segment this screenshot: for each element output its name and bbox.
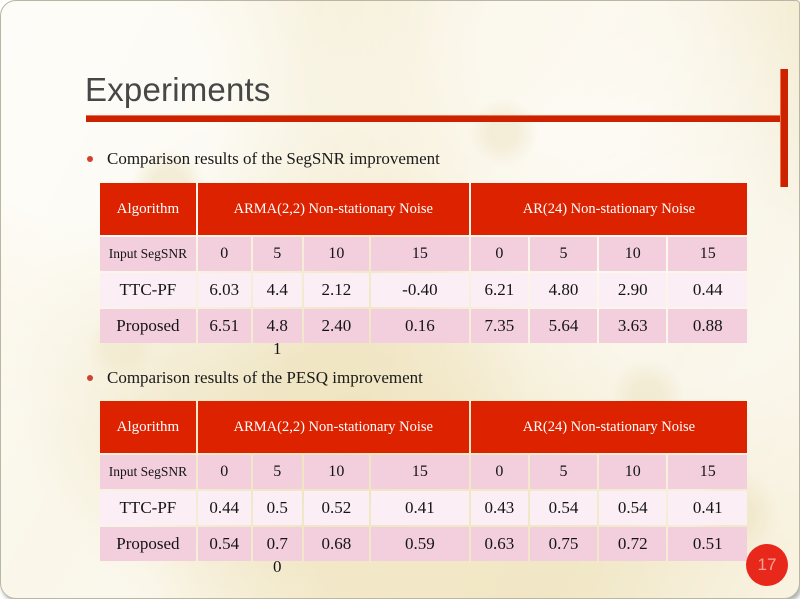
subheader-cell: 5 — [530, 237, 597, 271]
right-accent-bar — [780, 69, 788, 187]
subheader-cell: 0 — [471, 455, 528, 489]
column-group-header: ARMA(2,2) Non-stationary Noise — [198, 183, 469, 235]
table-cell: 0.54 — [599, 491, 666, 525]
bullet-label: Comparison results of the PESQ improveme… — [107, 368, 423, 388]
slide-number-badge: 17 — [746, 544, 788, 586]
table-cell: 7.35 — [471, 309, 528, 343]
segsnr-table-container: AlgorithmARMA(2,2) Non-stationary NoiseA… — [98, 181, 749, 345]
table-cell: 2.12 — [304, 273, 369, 307]
row-label: TTC-PF — [100, 491, 196, 525]
table-cell: 5.64 — [530, 309, 597, 343]
subheader-cell: 0 — [198, 237, 251, 271]
subheader-cell: 10 — [599, 455, 666, 489]
table-cell: 4.81 — [253, 309, 302, 343]
cell-value-overflow: 1 — [253, 339, 302, 359]
slide-canvas: Experiments Comparison results of the Se… — [0, 0, 800, 599]
table-cell: 0.63 — [471, 527, 528, 561]
table-cell: 0.41 — [668, 491, 747, 525]
bullet-item-segsnr: Comparison results of the SegSNR improve… — [87, 149, 440, 169]
bullet-dot-icon — [87, 156, 93, 162]
table-cell: 0.43 — [471, 491, 528, 525]
table-header-row: AlgorithmARMA(2,2) Non-stationary NoiseA… — [100, 183, 747, 235]
cell-value: 0.7 — [253, 534, 302, 554]
subheader-label: Input SegSNR — [100, 237, 196, 271]
table-cell: 0.41 — [371, 491, 469, 525]
column-group-header: AR(24) Non-stationary Noise — [471, 401, 747, 453]
subheader-cell: 0 — [198, 455, 251, 489]
table-cell: 3.63 — [599, 309, 666, 343]
cell-value: 4.8 — [253, 316, 302, 336]
bullet-item-pesq: Comparison results of the PESQ improveme… — [87, 368, 423, 388]
table-cell: 0.88 — [668, 309, 747, 343]
table-cell: 0.68 — [304, 527, 369, 561]
table-cell: 0.52 — [304, 491, 369, 525]
table-row: TTC-PF0.440.50.520.410.430.540.540.41 — [100, 491, 747, 525]
table-cell: 0.59 — [371, 527, 469, 561]
subheader-cell: 15 — [371, 455, 469, 489]
table-cell: 6.51 — [198, 309, 251, 343]
table-cell: 4.4 — [253, 273, 302, 307]
table-row: Proposed6.514.812.400.167.355.643.630.88 — [100, 309, 747, 343]
segsnr-table: AlgorithmARMA(2,2) Non-stationary NoiseA… — [98, 181, 749, 345]
pesq-table: AlgorithmARMA(2,2) Non-stationary NoiseA… — [98, 399, 749, 563]
column-header-algorithm: Algorithm — [100, 183, 196, 235]
table-cell: 0.54 — [198, 527, 251, 561]
column-header-algorithm: Algorithm — [100, 401, 196, 453]
subheader-cell: 5 — [253, 455, 302, 489]
table-cell: 2.40 — [304, 309, 369, 343]
bullet-dot-icon — [87, 375, 93, 381]
table-cell: -0.40 — [371, 273, 469, 307]
pesq-table-container: AlgorithmARMA(2,2) Non-stationary NoiseA… — [98, 399, 749, 563]
table-row: Proposed0.540.700.680.590.630.750.720.51 — [100, 527, 747, 561]
subheader-label: Input SegSNR — [100, 455, 196, 489]
table-cell: 0.70 — [253, 527, 302, 561]
table-cell: 0.72 — [599, 527, 666, 561]
column-group-header: ARMA(2,2) Non-stationary Noise — [198, 401, 469, 453]
table-cell: 0.54 — [530, 491, 597, 525]
title-underline-rule — [86, 115, 788, 122]
table-cell: 0.44 — [668, 273, 747, 307]
table-cell: 4.80 — [530, 273, 597, 307]
table-subheader-row: Input SegSNR051015051015 — [100, 455, 747, 489]
subheader-cell: 15 — [668, 455, 747, 489]
table-cell: 0.75 — [530, 527, 597, 561]
subheader-cell: 15 — [668, 237, 747, 271]
table-cell: 2.90 — [599, 273, 666, 307]
cell-value-overflow: 0 — [253, 557, 302, 577]
subheader-cell: 15 — [371, 237, 469, 271]
subheader-cell: 10 — [304, 237, 369, 271]
table-subheader-row: Input SegSNR051015051015 — [100, 237, 747, 271]
column-group-header: AR(24) Non-stationary Noise — [471, 183, 747, 235]
subheader-cell: 10 — [304, 455, 369, 489]
table-cell: 6.03 — [198, 273, 251, 307]
page-title: Experiments — [85, 71, 271, 109]
subheader-cell: 10 — [599, 237, 666, 271]
subheader-cell: 5 — [253, 237, 302, 271]
table-cell: 6.21 — [471, 273, 528, 307]
row-label: Proposed — [100, 527, 196, 561]
subheader-cell: 0 — [471, 237, 528, 271]
table-header-row: AlgorithmARMA(2,2) Non-stationary NoiseA… — [100, 401, 747, 453]
table-cell: 0.51 — [668, 527, 747, 561]
row-label: Proposed — [100, 309, 196, 343]
table-cell: 0.16 — [371, 309, 469, 343]
table-cell: 0.5 — [253, 491, 302, 525]
bullet-label: Comparison results of the SegSNR improve… — [107, 149, 440, 169]
row-label: TTC-PF — [100, 273, 196, 307]
table-cell: 0.44 — [198, 491, 251, 525]
subheader-cell: 5 — [530, 455, 597, 489]
table-row: TTC-PF6.034.42.12-0.406.214.802.900.44 — [100, 273, 747, 307]
